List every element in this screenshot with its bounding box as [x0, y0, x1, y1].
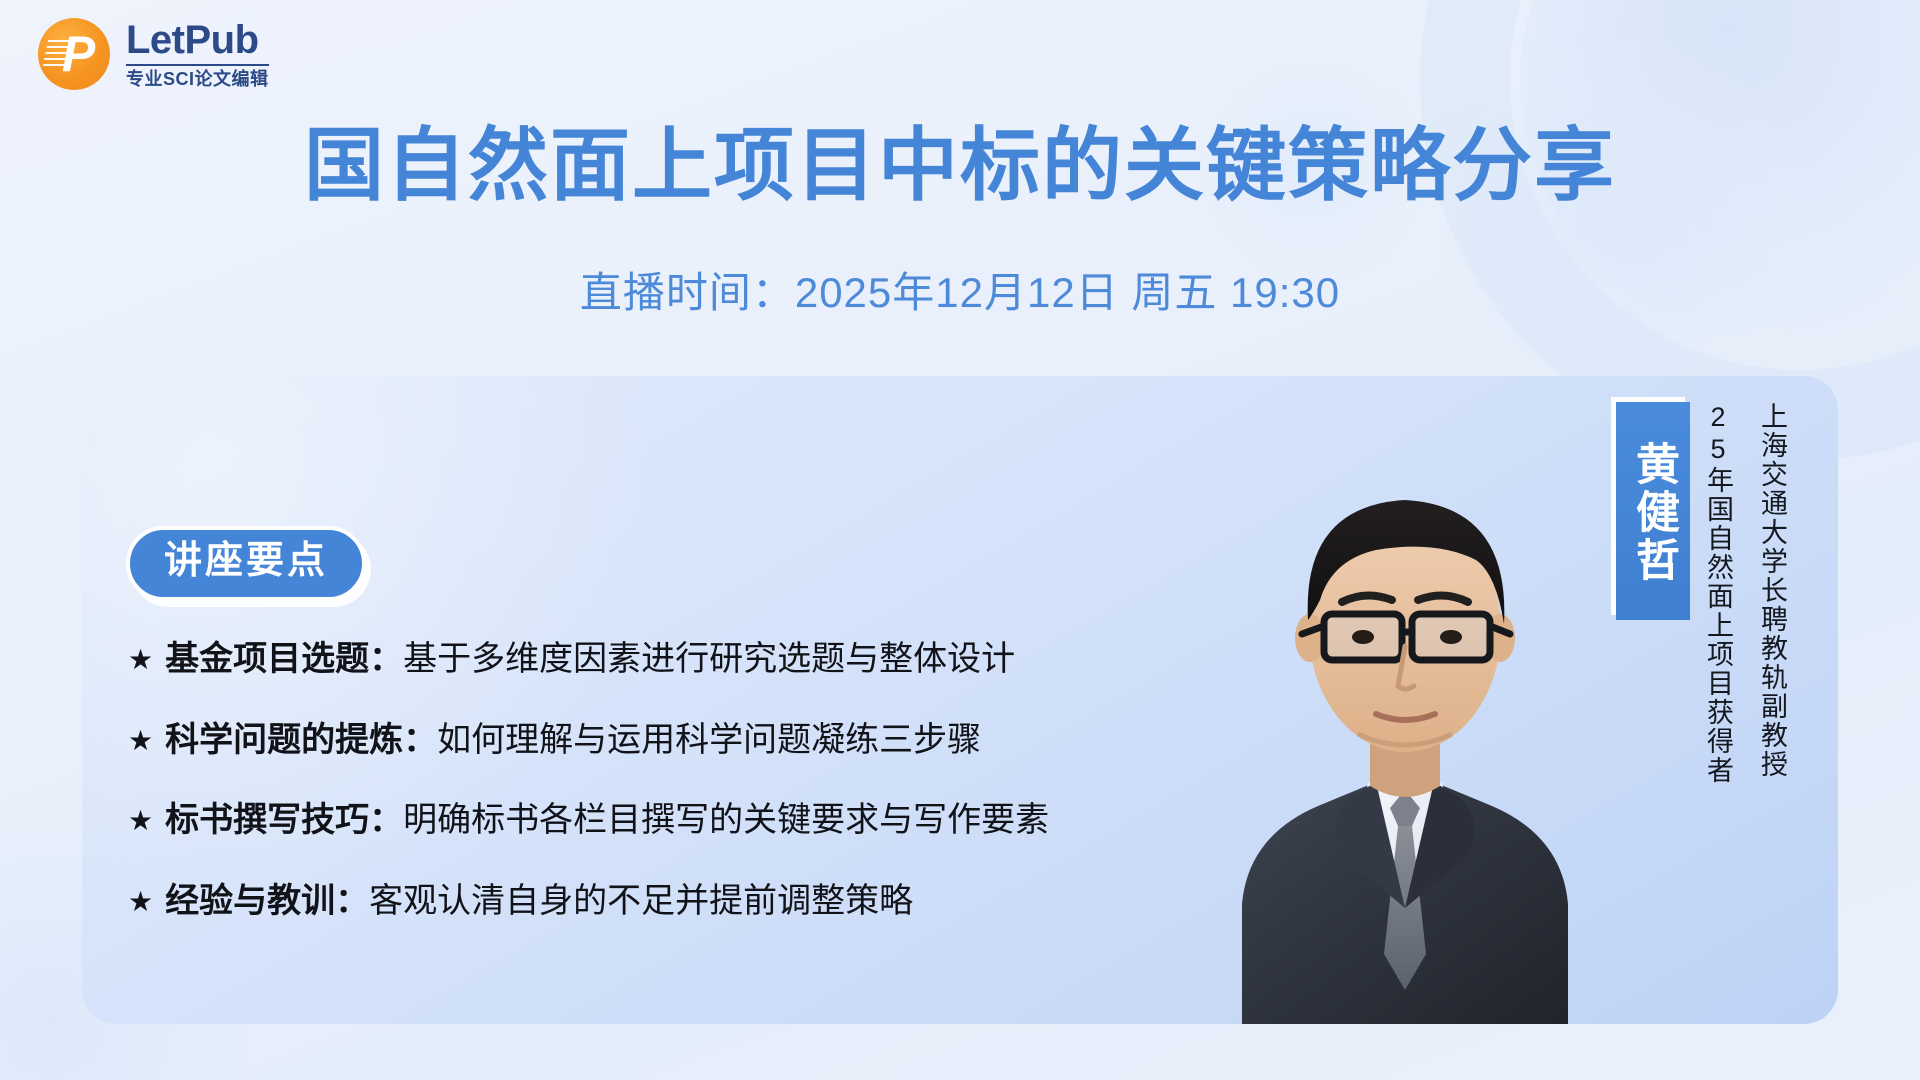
logo-wordmark: LetPub 专业SCI论文编辑 [126, 20, 269, 88]
star-icon: ★ [128, 884, 153, 919]
speaker-name-banner: 黄健哲 [1616, 402, 1690, 620]
highlights-list: ★ 基金项目选题：基于多维度因素进行研究选题与整体设计 ★ 科学问题的提炼：如何… [128, 638, 1188, 960]
webinar-poster: P LetPub 专业SCI论文编辑 国自然面上项目中标的关键策略分享 直播时间… [0, 0, 1920, 1080]
content-card: 讲座要点 ★ 基金项目选题：基于多维度因素进行研究选题与整体设计 ★ 科学问题的… [82, 376, 1838, 1024]
list-item-head: 基金项目选题： [165, 640, 403, 678]
logo-letter: P [38, 18, 110, 90]
highlights-badge: 讲座要点 [126, 526, 366, 601]
list-item-head: 科学问题的提炼： [165, 721, 437, 759]
list-item-head: 标书撰写技巧： [165, 801, 403, 839]
star-icon: ★ [128, 723, 153, 758]
list-item-text: 标书撰写技巧：明确标书各栏目撰写的关键要求与写作要素 [165, 799, 1049, 842]
brand-tagline: 专业SCI论文编辑 [126, 64, 269, 88]
list-item: ★ 标书撰写技巧：明确标书各栏目撰写的关键要求与写作要素 [128, 799, 1188, 842]
list-item-body: 基于多维度因素进行研究选题与整体设计 [403, 640, 1015, 678]
star-icon: ★ [128, 803, 153, 838]
list-item: ★ 基金项目选题：基于多维度因素进行研究选题与整体设计 [128, 638, 1188, 681]
speaker-credential-secondary: 25年国自然面上项目获得者 [1704, 402, 1732, 785]
letpub-logo-icon: P [38, 18, 110, 90]
list-item: ★ 经验与教训：客观认清自身的不足并提前调整策略 [128, 880, 1188, 923]
list-item-body: 如何理解与运用科学问题凝练三步骤 [437, 721, 981, 759]
page-title: 国自然面上项目中标的关键策略分享 [0, 126, 1920, 206]
background-blob-secondary [1440, 40, 1800, 400]
speaker-portrait [1190, 434, 1620, 1024]
brand-name: LetPub [126, 20, 269, 60]
highlights-badge-wrap: 讲座要点 [126, 526, 366, 601]
list-item-text: 基金项目选题：基于多维度因素进行研究选题与整体设计 [165, 638, 1015, 681]
list-item-text: 科学问题的提炼：如何理解与运用科学问题凝练三步骤 [165, 719, 981, 762]
list-item-body: 客观认清自身的不足并提前调整策略 [369, 882, 913, 920]
speaker-credential-primary: 上海交通大学长聘教轨副教授 [1758, 402, 1786, 779]
letpub-logo: P LetPub 专业SCI论文编辑 [38, 18, 269, 90]
broadcast-time: 直播时间：2025年12月12日 周五 19:30 [0, 272, 1920, 314]
star-icon: ★ [128, 642, 153, 677]
list-item-head: 经验与教训： [165, 882, 369, 920]
list-item-body: 明确标书各栏目撰写的关键要求与写作要素 [403, 801, 1049, 839]
list-item-text: 经验与教训：客观认清自身的不足并提前调整策略 [165, 880, 913, 923]
list-item: ★ 科学问题的提炼：如何理解与运用科学问题凝练三步骤 [128, 719, 1188, 762]
